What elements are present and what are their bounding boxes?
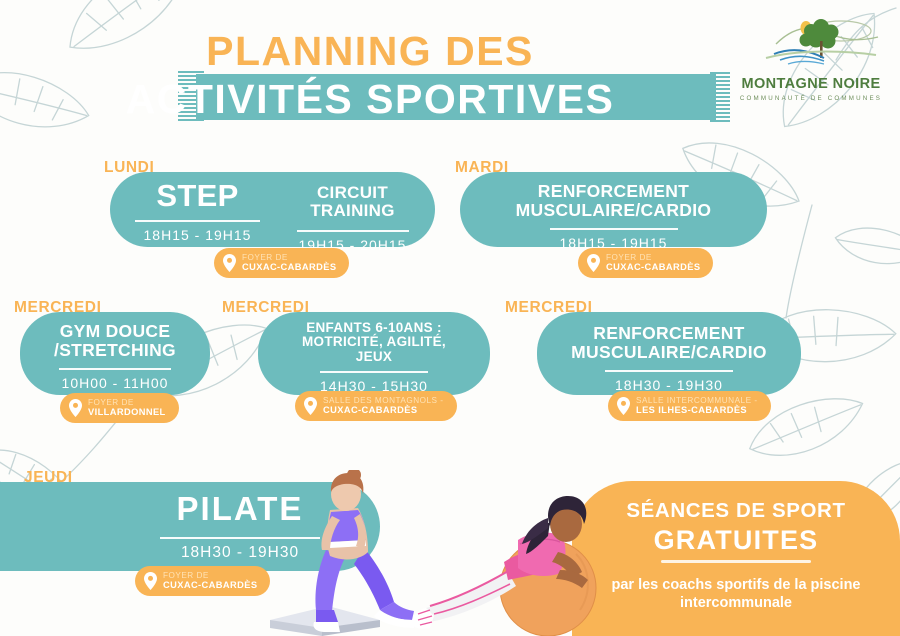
location-line2: VILLARDONNEL (88, 407, 166, 417)
day-card-mercredi-enfants: ENFANTS 6-10ANS : MOTRICITÉ, AGILITÉ, JE… (258, 312, 490, 395)
activity-time: 18H30 - 19H30 (181, 544, 299, 562)
day-label-lundi: LUNDI (104, 159, 154, 177)
map-pin-icon (223, 254, 236, 272)
location-line2: CUXAC-CABARDÈS (163, 580, 257, 590)
location-pill-mercredi-renfo: SALLE INTERCOMMUNALE - LES ILHES-CABARDÈ… (608, 391, 771, 421)
day-label-mercredi-gym: MERCREDI (14, 299, 101, 317)
location-line1: FOYER DE (606, 253, 700, 262)
page-title-line2: ACTIVITÉS SPORTIVES (0, 76, 740, 123)
location-line2: LES ILHES-CABARDÈS (636, 405, 758, 415)
promo-line2: GRATUITES (572, 525, 900, 556)
activity-name: PILATE (177, 492, 304, 527)
map-pin-icon (69, 399, 82, 417)
page-title-line1: PLANNING DES (0, 28, 740, 75)
location-pill-lundi: FOYER DE CUXAC-CABARDÈS (214, 248, 349, 278)
logo-subtitle: COMMUNAUTÉ DE COMMUNES (736, 95, 886, 102)
location-pill-mercredi-enfants: SALLE DES MONTAGNOLS - CUXAC-CABARDÈS (295, 391, 457, 421)
location-line1: SALLE INTERCOMMUNALE - (636, 396, 758, 405)
day-card-jeudi: PILATE 18H30 - 19H30 (0, 482, 380, 571)
promo-line3: par les coachs sportifs de la piscine in… (572, 576, 900, 612)
location-pill-mercredi-gym: FOYER DE VILLARDONNEL (60, 393, 179, 423)
tree-logo-icon (736, 14, 886, 70)
activity-name: STEP (156, 180, 238, 213)
location-pill-jeudi: FOYER DE CUXAC-CABARDÈS (135, 566, 270, 596)
day-label-jeudi: JEUDI (24, 469, 73, 487)
map-pin-icon (587, 254, 600, 272)
location-line2: CUXAC-CABARDÈS (242, 262, 336, 272)
activity-name: CIRCUIT TRAINING (298, 184, 408, 220)
promo-underline (661, 560, 811, 563)
poster-root: PLANNING DES ACTIVITÉS SPORTIVES MONTAGN… (0, 0, 900, 636)
location-line1: FOYER DE (88, 398, 166, 407)
activity-name: RENFORCEMENT MUSCULAIRE/CARDIO (489, 182, 739, 219)
day-card-mercredi-gym: GYM DOUCE /STRETCHING 10H00 - 11H00 (20, 312, 210, 395)
location-line1: FOYER DE (242, 253, 336, 262)
location-line1: FOYER DE (163, 571, 257, 580)
day-label-mercredi-enfants: MERCREDI (222, 299, 309, 317)
promo-panel: SÉANCES DE SPORT GRATUITES par les coach… (572, 481, 900, 636)
activity-name: RENFORCEMENT MUSCULAIRE/CARDIO (549, 324, 789, 361)
day-label-mardi: MARDI (455, 159, 509, 177)
activity-name: GYM DOUCE /STRETCHING (40, 322, 190, 359)
location-pill-mardi: FOYER DE CUXAC-CABARDÈS (578, 248, 713, 278)
activity-time: 10H00 - 11H00 (62, 375, 169, 391)
logo-name: MONTAGNE NOIRE (736, 76, 886, 92)
day-card-mardi: RENFORCEMENT MUSCULAIRE/CARDIO 18H15 - 1… (460, 172, 767, 247)
location-line2: CUXAC-CABARDÈS (606, 262, 700, 272)
location-line1: SALLE DES MONTAGNOLS - (323, 396, 444, 405)
map-pin-icon (617, 397, 630, 415)
promo-line1: SÉANCES DE SPORT (572, 499, 900, 523)
map-pin-icon (144, 572, 157, 590)
activity-name: ENFANTS 6-10ANS : MOTRICITÉ, AGILITÉ, JE… (294, 321, 454, 364)
logo: MONTAGNE NOIRE COMMUNAUTÉ DE COMMUNES (736, 14, 886, 100)
map-pin-icon (304, 397, 317, 415)
activity-time: 18H15 - 19H15 (144, 227, 252, 243)
day-label-mercredi-renfo: MERCREDI (505, 299, 592, 317)
day-card-lundi: STEP 18H15 - 19H15 CIRCUIT TRAINING 19H1… (110, 172, 435, 247)
day-card-mercredi-renfo: RENFORCEMENT MUSCULAIRE/CARDIO 18H30 - 1… (537, 312, 801, 395)
location-line2: CUXAC-CABARDÈS (323, 405, 444, 415)
